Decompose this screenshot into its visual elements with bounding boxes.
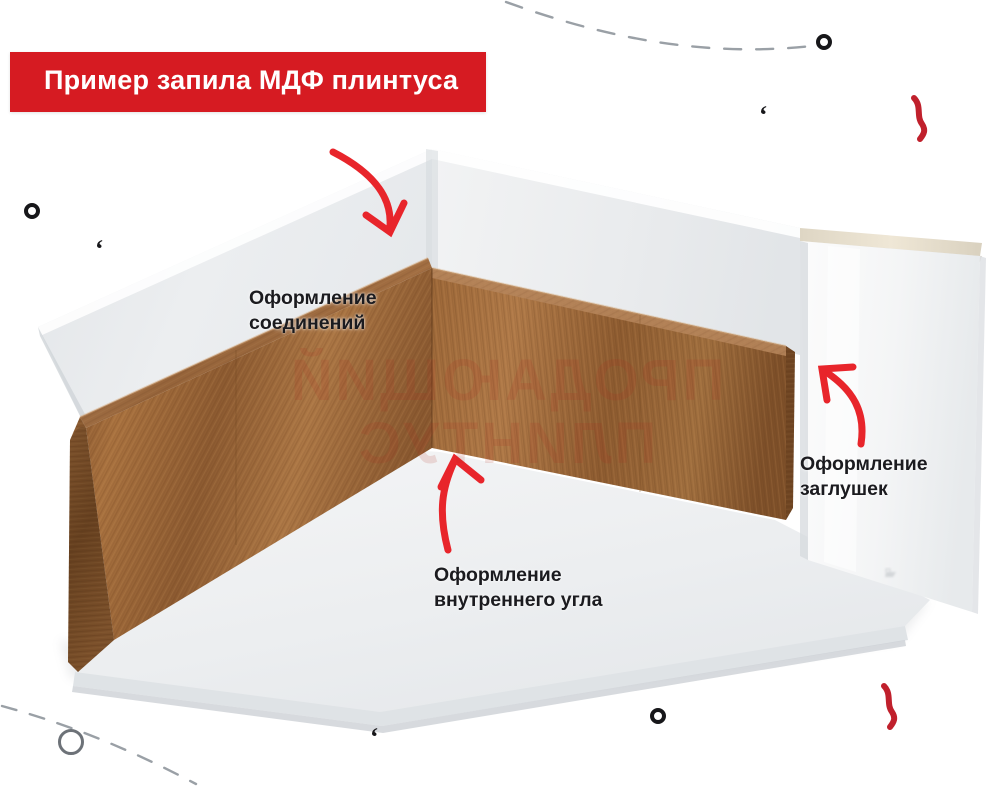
ring-dark-top-right-icon	[816, 34, 832, 50]
end-cap-panel	[800, 228, 986, 614]
callout-label-end-caps: Оформление заглушек	[800, 452, 928, 502]
squiggle-bottom-right-path	[884, 686, 894, 727]
callout-label-joints: Оформление соединений	[249, 286, 377, 336]
callout-label-inner-corner: Оформление внутреннего угла	[434, 563, 602, 613]
title-banner: Пример запила МДФ плинтуса	[10, 52, 486, 112]
comma-top-right-icon: ,	[760, 105, 767, 131]
dashed-arc-top-path	[506, 2, 812, 49]
illustration-canvas: , , , ПРОДАЮЩИЙ ПЛИНТУС Пример запила МД…	[0, 0, 1000, 800]
ring-gray-bottom-left-icon	[58, 729, 84, 755]
dashed-line-bottom-left-path	[2, 706, 196, 784]
ring-dark-left-icon	[24, 203, 40, 219]
comma-left-icon: ,	[96, 239, 103, 265]
page-title: Пример запила МДФ плинтуса	[44, 66, 458, 96]
comma-bottom-icon: ,	[371, 727, 378, 753]
ring-dark-bottom-icon	[650, 708, 666, 724]
skirting-board-photo	[0, 0, 1000, 800]
squiggle-top-right-path	[914, 98, 924, 139]
